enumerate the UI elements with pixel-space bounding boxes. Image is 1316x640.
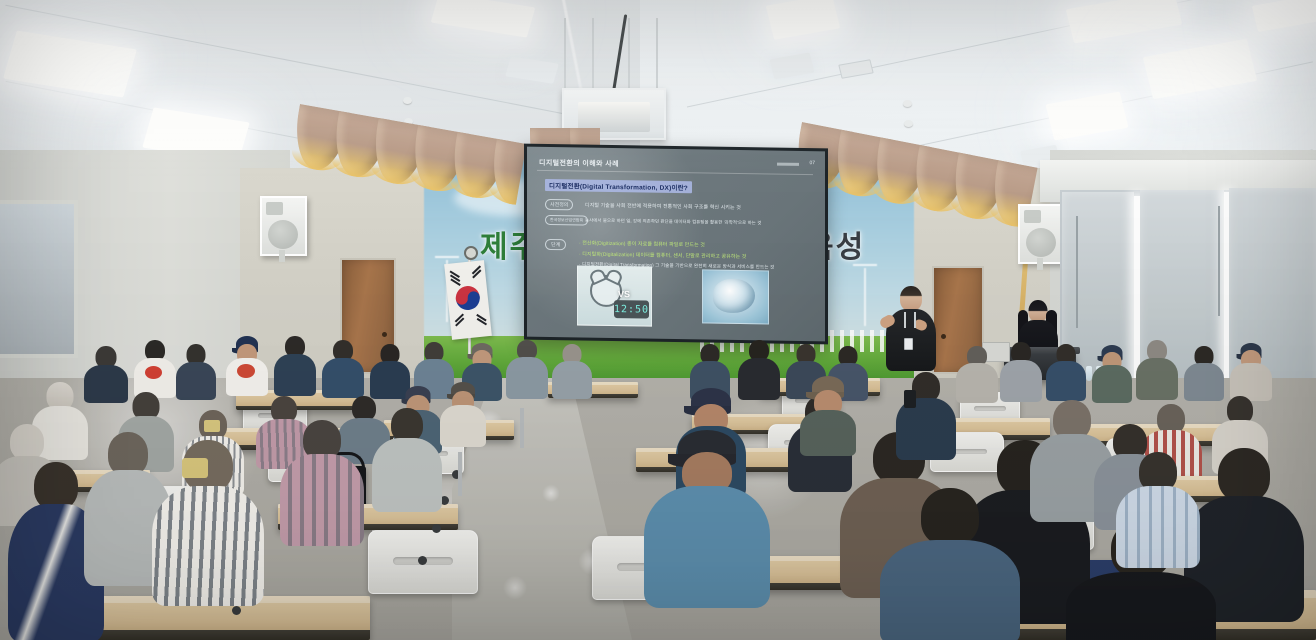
caster-wheel — [232, 606, 241, 615]
attendee — [372, 408, 442, 506]
digital-clock-icon: 12:50 — [614, 300, 649, 319]
slide-subtitle: 디지털전환(Digital Transformation, DX)이란? — [545, 179, 692, 193]
slide-row-pill: 사전정의 — [545, 199, 573, 210]
caster-wheel — [418, 556, 427, 565]
slide-image-clock-comparison: VS 12:50 — [577, 265, 652, 326]
lecture-hall-photo: 제주 육성 — [0, 0, 1316, 640]
host-head — [1029, 300, 1048, 322]
attendee — [1092, 346, 1132, 400]
attendee — [1046, 344, 1086, 400]
taeguk-symbol — [455, 285, 481, 311]
projector-mount-rod — [628, 18, 630, 96]
attendee — [1116, 452, 1200, 562]
door-knob-icon — [941, 334, 946, 339]
attendee — [1184, 346, 1224, 400]
attendee — [152, 440, 264, 600]
projector-mount-rod — [564, 18, 566, 96]
slide-page-number: 07 — [809, 160, 815, 166]
attendee — [1230, 344, 1272, 400]
blind-pull-chain[interactable] — [1218, 206, 1220, 316]
desk-leg — [458, 452, 462, 496]
attendee — [644, 432, 770, 602]
attendee — [506, 340, 548, 398]
attendee — [738, 340, 780, 398]
tshirt-graphic — [237, 364, 255, 378]
attendee — [896, 372, 956, 456]
mural-windmill — [864, 268, 866, 326]
brain-illustration — [713, 279, 755, 314]
korean-flag-icon — [444, 260, 492, 340]
wall-speaker-left — [260, 196, 307, 256]
attendee — [280, 420, 364, 540]
wall-speaker-right — [1018, 204, 1065, 264]
desk-leg — [520, 408, 524, 448]
hair-clip — [182, 458, 208, 478]
attendee — [880, 488, 1020, 640]
attendee — [134, 340, 176, 396]
attendee — [1000, 342, 1042, 400]
hair-clip — [204, 420, 220, 432]
window-left — [0, 200, 78, 358]
presenter-head — [900, 286, 922, 311]
smartphone-raised — [904, 390, 916, 408]
caster-wheel — [432, 524, 441, 533]
presenter — [884, 286, 938, 370]
slide-row-pill: 한국정보산업연합회 — [545, 215, 588, 226]
attendee — [274, 336, 316, 394]
slide-header-rule — [777, 163, 799, 166]
slide-surface: 디지털전환의 이해와 사례 07 디지털전환(Digital Transform… — [527, 147, 825, 342]
projector-mount-rod — [656, 18, 658, 96]
attendee — [956, 346, 998, 402]
door-knob-icon — [382, 332, 387, 337]
attendee — [1136, 340, 1178, 398]
smoke-detector-icon — [403, 97, 412, 104]
slide-header: 디지털전환의 이해와 사례 — [539, 158, 619, 169]
projection-screen: 디지털전환의 이해와 사례 07 디지털전환(Digital Transform… — [524, 144, 828, 345]
blind-pull-chain[interactable] — [1076, 216, 1078, 328]
ceiling-projector — [556, 18, 668, 138]
tshirt-graphic — [145, 366, 162, 379]
flag-pole-finial — [464, 246, 478, 260]
attendee — [552, 344, 592, 398]
smoke-detector-icon — [903, 100, 912, 107]
attendee — [440, 384, 486, 442]
smoke-detector-icon — [904, 120, 913, 127]
projector-cable — [612, 14, 627, 93]
lanyard — [914, 312, 916, 328]
id-badge — [904, 338, 913, 350]
speaker-bracket — [279, 250, 285, 262]
attendee — [176, 344, 216, 398]
attendee — [322, 340, 364, 396]
slide-image-brain — [702, 269, 769, 324]
lanyard — [904, 312, 906, 328]
attendee — [226, 338, 268, 394]
projector-mount-rod — [592, 18, 594, 96]
slide-stage-label: 단계 — [545, 239, 566, 250]
digital-clock-time: 12:50 — [614, 304, 649, 316]
vs-label: VS — [618, 289, 630, 299]
speaker-bracket — [1037, 258, 1043, 270]
